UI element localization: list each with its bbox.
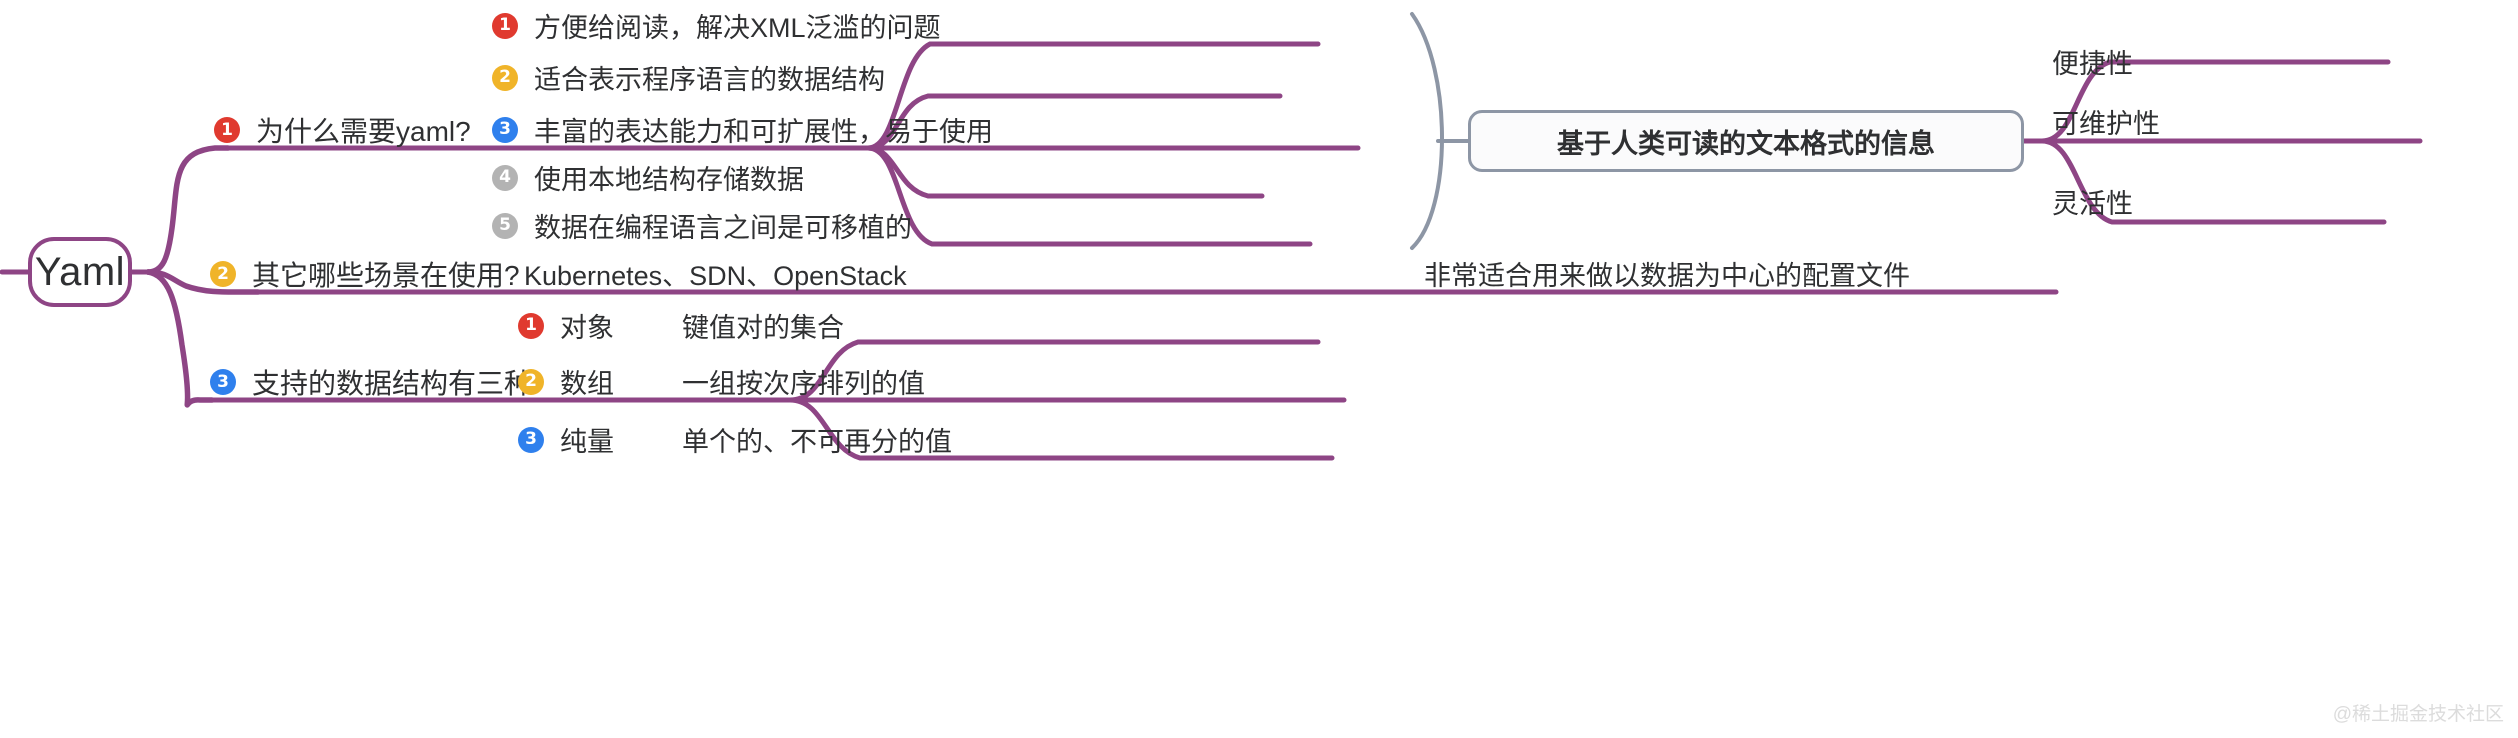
summary-box[interactable]: 基于人类可读的文本格式的信息 [1468, 110, 2024, 172]
branch-topic-3[interactable]: 3 支持的数据结构有三种 [210, 362, 532, 402]
summary-child-2[interactable]: 可维护性 [2052, 102, 2160, 141]
b3-child-2[interactable]: 2 数组 [518, 362, 614, 401]
branch-topic-2[interactable]: 2 其它哪些场景在使用? [210, 254, 520, 294]
wire-b1-child-4 [868, 148, 1262, 196]
b1-child-5-label: 数据在编程语言之间是可移植的 [534, 206, 912, 245]
bracket-group-b1-children [1412, 14, 1442, 248]
b3-child-3-label: 纯量 [560, 420, 614, 459]
b1-child-1[interactable]: 1 方便给阅读，解决XML泛滥的问题 [492, 6, 941, 45]
b2-child-1[interactable]: Kubernetes、SDN、OpenStack [524, 254, 907, 293]
b1-child-2[interactable]: 2 适合表示程序语言的数据结构 [492, 58, 885, 97]
b3-child-2-label: 数组 [560, 362, 614, 401]
b3-child-1-detail-label: 键值对的集合 [682, 313, 844, 343]
b1-child-5[interactable]: 5 数据在编程语言之间是可移植的 [492, 206, 912, 245]
badge-icon-b3c2: 2 [518, 369, 544, 395]
b2-child-2-label: 非常适合用来做以数据为中心的配置文件 [1424, 261, 1910, 291]
b1-child-3[interactable]: 3 丰富的表达能力和可扩展性，易于使用 [492, 110, 993, 149]
badge-icon-b1c2: 2 [492, 65, 518, 91]
b3-child-1-detail: 键值对的集合 [682, 306, 844, 345]
branch-topic-2-label: 其它哪些场景在使用? [252, 254, 520, 294]
badge-icon-1: 1 [214, 117, 240, 143]
b1-child-4[interactable]: 4 使用本地结构存储数据 [492, 158, 804, 197]
badge-icon-b1c1: 1 [492, 13, 518, 39]
b2-child-2[interactable]: 非常适合用来做以数据为中心的配置文件 [1424, 254, 1910, 293]
badge-icon-b1c4: 4 [492, 165, 518, 191]
b3-child-2-detail: 一组按次序排列的值 [682, 362, 925, 401]
badge-icon-3: 3 [210, 369, 236, 395]
summary-child-1-label: 便捷性 [2052, 49, 2133, 79]
badge-icon-b3c3: 3 [518, 427, 544, 453]
b1-child-3-label: 丰富的表达能力和可扩展性，易于使用 [534, 110, 993, 149]
mindmap-canvas: Yaml 1 为什么需要yaml? 2 其它哪些场景在使用? 3 支持的数据结构… [0, 0, 2518, 738]
badge-icon-b1c3: 3 [492, 117, 518, 143]
b3-child-1[interactable]: 1 对象 [518, 306, 614, 345]
b2-child-1-label: Kubernetes、SDN、OpenStack [524, 261, 907, 291]
b3-child-1-label: 对象 [560, 306, 614, 345]
summary-child-1[interactable]: 便捷性 [2052, 42, 2133, 81]
b3-child-2-detail-label: 一组按次序排列的值 [682, 369, 925, 399]
root-node-label: Yaml [35, 250, 125, 295]
summary-child-3[interactable]: 灵活性 [2052, 182, 2133, 221]
b1-child-1-label: 方便给阅读，解决XML泛滥的问题 [534, 6, 941, 45]
badge-icon-b1c5: 5 [492, 213, 518, 239]
summary-box-label: 基于人类可读的文本格式的信息 [1557, 122, 1935, 161]
root-node[interactable]: Yaml [28, 237, 132, 307]
b3-child-3-detail: 单个的、不可再分的值 [682, 420, 952, 459]
branch-topic-3-label: 支持的数据结构有三种 [252, 362, 532, 402]
b1-child-4-label: 使用本地结构存储数据 [534, 158, 804, 197]
b3-child-3-detail-label: 单个的、不可再分的值 [682, 427, 952, 457]
watermark: @稀土掘金技术社区 [2333, 699, 2504, 726]
summary-child-3-label: 灵活性 [2052, 189, 2133, 219]
branch-topic-1-label: 为什么需要yaml? [256, 110, 471, 150]
b3-child-3[interactable]: 3 纯量 [518, 420, 614, 459]
branch-topic-1[interactable]: 1 为什么需要yaml? [214, 110, 471, 150]
b1-child-2-label: 适合表示程序语言的数据结构 [534, 58, 885, 97]
badge-icon-2: 2 [210, 261, 236, 287]
summary-child-2-label: 可维护性 [2052, 109, 2160, 139]
badge-icon-b3c1: 1 [518, 313, 544, 339]
